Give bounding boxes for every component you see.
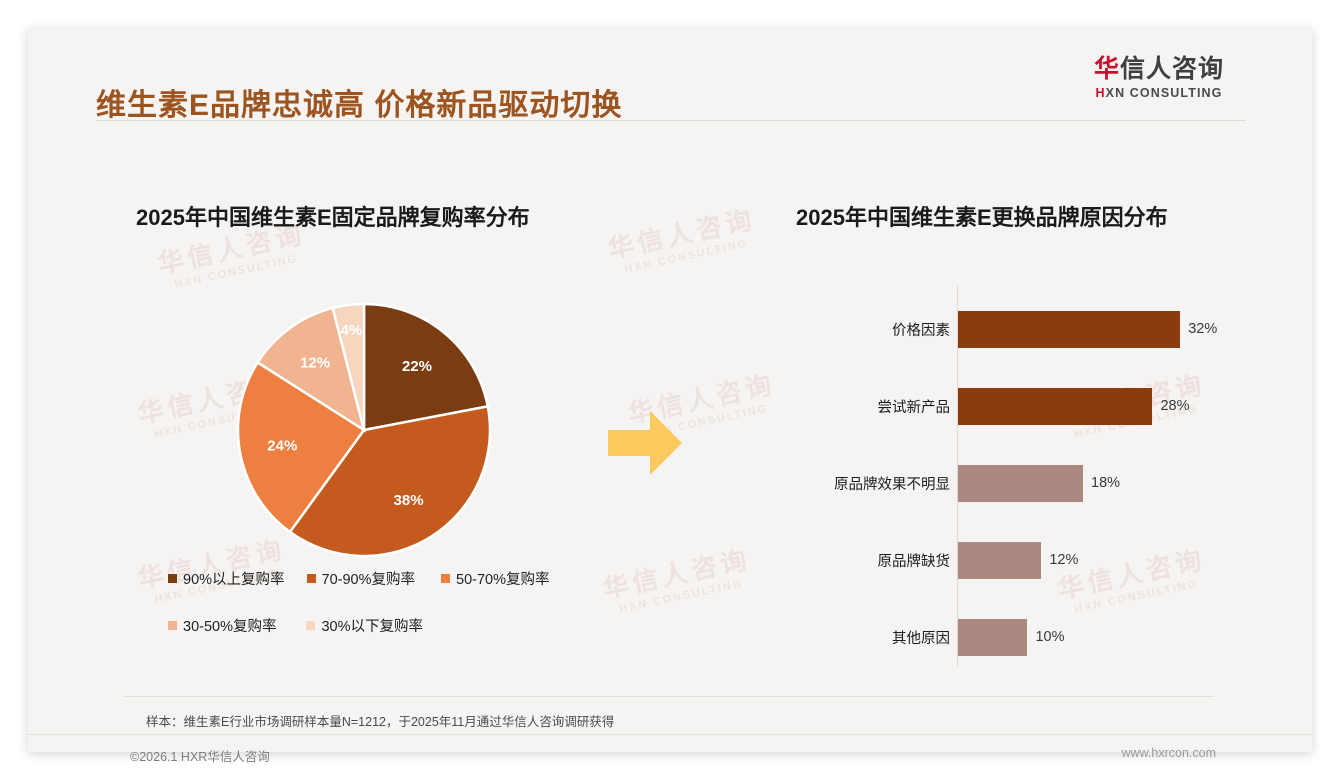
bar-category-label: 尝试新产品 <box>818 396 958 417</box>
pie-value-label-4: 4% <box>341 322 363 339</box>
legend-swatch-3 <box>168 621 177 630</box>
legend-swatch-0 <box>168 574 177 583</box>
bar-fill[interactable] <box>958 542 1041 579</box>
bar-category-label: 原品牌效果不明显 <box>818 473 958 494</box>
bar-row[interactable]: 其他原因10% <box>818 616 1268 658</box>
legend-row-2: 30-50%复购率 30%以下复购率 <box>168 615 588 636</box>
legend-item-3[interactable]: 30-50%复购率 <box>168 615 276 636</box>
legend-swatch-1 <box>307 574 316 583</box>
legend-swatch-2 <box>441 574 450 583</box>
bar-value-label: 32% <box>1188 321 1217 337</box>
bar-fill[interactable] <box>958 388 1152 425</box>
legend-item-0[interactable]: 90%以上复购率 <box>168 568 285 589</box>
right-arrow-icon <box>606 408 684 483</box>
legend-label-2: 50-70%复购率 <box>456 568 549 589</box>
source-divider <box>124 696 1214 697</box>
logo-cn-rest: 信人咨询 <box>1120 55 1224 83</box>
pie-value-label-3: 12% <box>300 355 330 372</box>
bar-row[interactable]: 原品牌缺货12% <box>818 539 1268 581</box>
watermark: 华信人咨询 HXN CONSULTING <box>600 543 756 619</box>
watermark: 华信人咨询 HXN CONSULTING <box>605 203 761 279</box>
right-arrow-svg <box>606 408 684 478</box>
bar-value-label: 12% <box>1049 552 1078 568</box>
watermark-en: HXN CONSULTING <box>162 250 312 295</box>
logo-cn-first-char: 华 <box>1094 55 1120 83</box>
right-chart-title: 2025年中国维生素E更换品牌原因分布 <box>796 200 1168 232</box>
logo-en-first-char: H <box>1096 86 1106 100</box>
bar-category-label: 其他原因 <box>818 627 958 648</box>
logo-chinese-text: 华信人咨询 <box>1074 56 1244 84</box>
logo-english-text: HXN CONSULTING <box>1074 86 1244 100</box>
bar-category-label: 原品牌缺货 <box>818 550 958 571</box>
slide-header: 维生素E品牌忠诚高 价格新品驱动切换 华信人咨询 HXN CONSULTING <box>28 28 1312 120</box>
bar-fill[interactable] <box>958 311 1180 348</box>
header-divider <box>96 120 1246 121</box>
watermark-cn: 华信人咨询 <box>600 543 753 606</box>
switch-reason-bar-chart: 价格因素32%尝试新产品28%原品牌效果不明显18%原品牌缺货12%其他原因10… <box>818 286 1268 666</box>
pie-value-label-0: 22% <box>402 358 432 375</box>
page-title: 维生素E品牌忠诚高 价格新品驱动切换 <box>96 80 622 124</box>
legend-item-4[interactable]: 30%以下复购率 <box>306 615 423 636</box>
legend-label-3: 30-50%复购率 <box>183 615 276 636</box>
logo-en-rest: XN CONSULTING <box>1106 86 1223 100</box>
bar-category-label: 价格因素 <box>818 319 958 340</box>
source-note: 样本：维生素E行业市场调研样本量N=1212，于2025年11月通过华信人咨询调… <box>146 711 614 730</box>
website-url[interactable]: www.hxrcon.com <box>1122 746 1216 760</box>
pie-slice-group <box>238 304 490 556</box>
legend-item-1[interactable]: 70-90%复购率 <box>307 568 415 589</box>
legend-label-0: 90%以上复购率 <box>183 568 285 589</box>
bar-value-label: 28% <box>1160 398 1189 414</box>
watermark-en: HXN CONSULTING <box>607 575 757 620</box>
bar-value-label: 18% <box>1091 475 1120 491</box>
legend-label-4: 30%以下复购率 <box>321 615 423 636</box>
legend-label-1: 70-90%复购率 <box>322 568 415 589</box>
bar-row[interactable]: 价格因素32% <box>818 308 1268 350</box>
company-logo: 华信人咨询 HXN CONSULTING <box>1074 56 1244 100</box>
repurchase-rate-pie-chart: 22%38%24%12%4% <box>235 301 493 559</box>
pie-legend: 90%以上复购率 70-90%复购率 50-70%复购率 30-50%复购率 3… <box>168 568 588 662</box>
bar-row[interactable]: 原品牌效果不明显18% <box>818 462 1268 504</box>
watermark-cn: 华信人咨询 <box>605 203 758 266</box>
bar-fill[interactable] <box>958 465 1083 502</box>
bar-fill[interactable] <box>958 619 1027 656</box>
footer-divider <box>28 734 1312 735</box>
copyright-text: ©2026.1 HXR华信人咨询 <box>130 746 270 765</box>
left-chart-title: 2025年中国维生素E固定品牌复购率分布 <box>136 200 530 232</box>
watermark-en: HXN CONSULTING <box>612 235 762 280</box>
bar-row[interactable]: 尝试新产品28% <box>818 385 1268 427</box>
pie-svg: 22%38%24%12%4% <box>235 301 493 559</box>
legend-item-2[interactable]: 50-70%复购率 <box>441 568 549 589</box>
legend-swatch-4 <box>306 621 315 630</box>
legend-row-1: 90%以上复购率 70-90%复购率 50-70%复购率 <box>168 568 588 589</box>
slide-canvas: 华信人咨询 HXN CONSULTING 华信人咨询 HXN CONSULTIN… <box>28 28 1312 752</box>
bar-value-label: 10% <box>1035 629 1064 645</box>
pie-value-label-2: 24% <box>267 438 297 455</box>
pie-value-label-1: 38% <box>394 492 424 509</box>
